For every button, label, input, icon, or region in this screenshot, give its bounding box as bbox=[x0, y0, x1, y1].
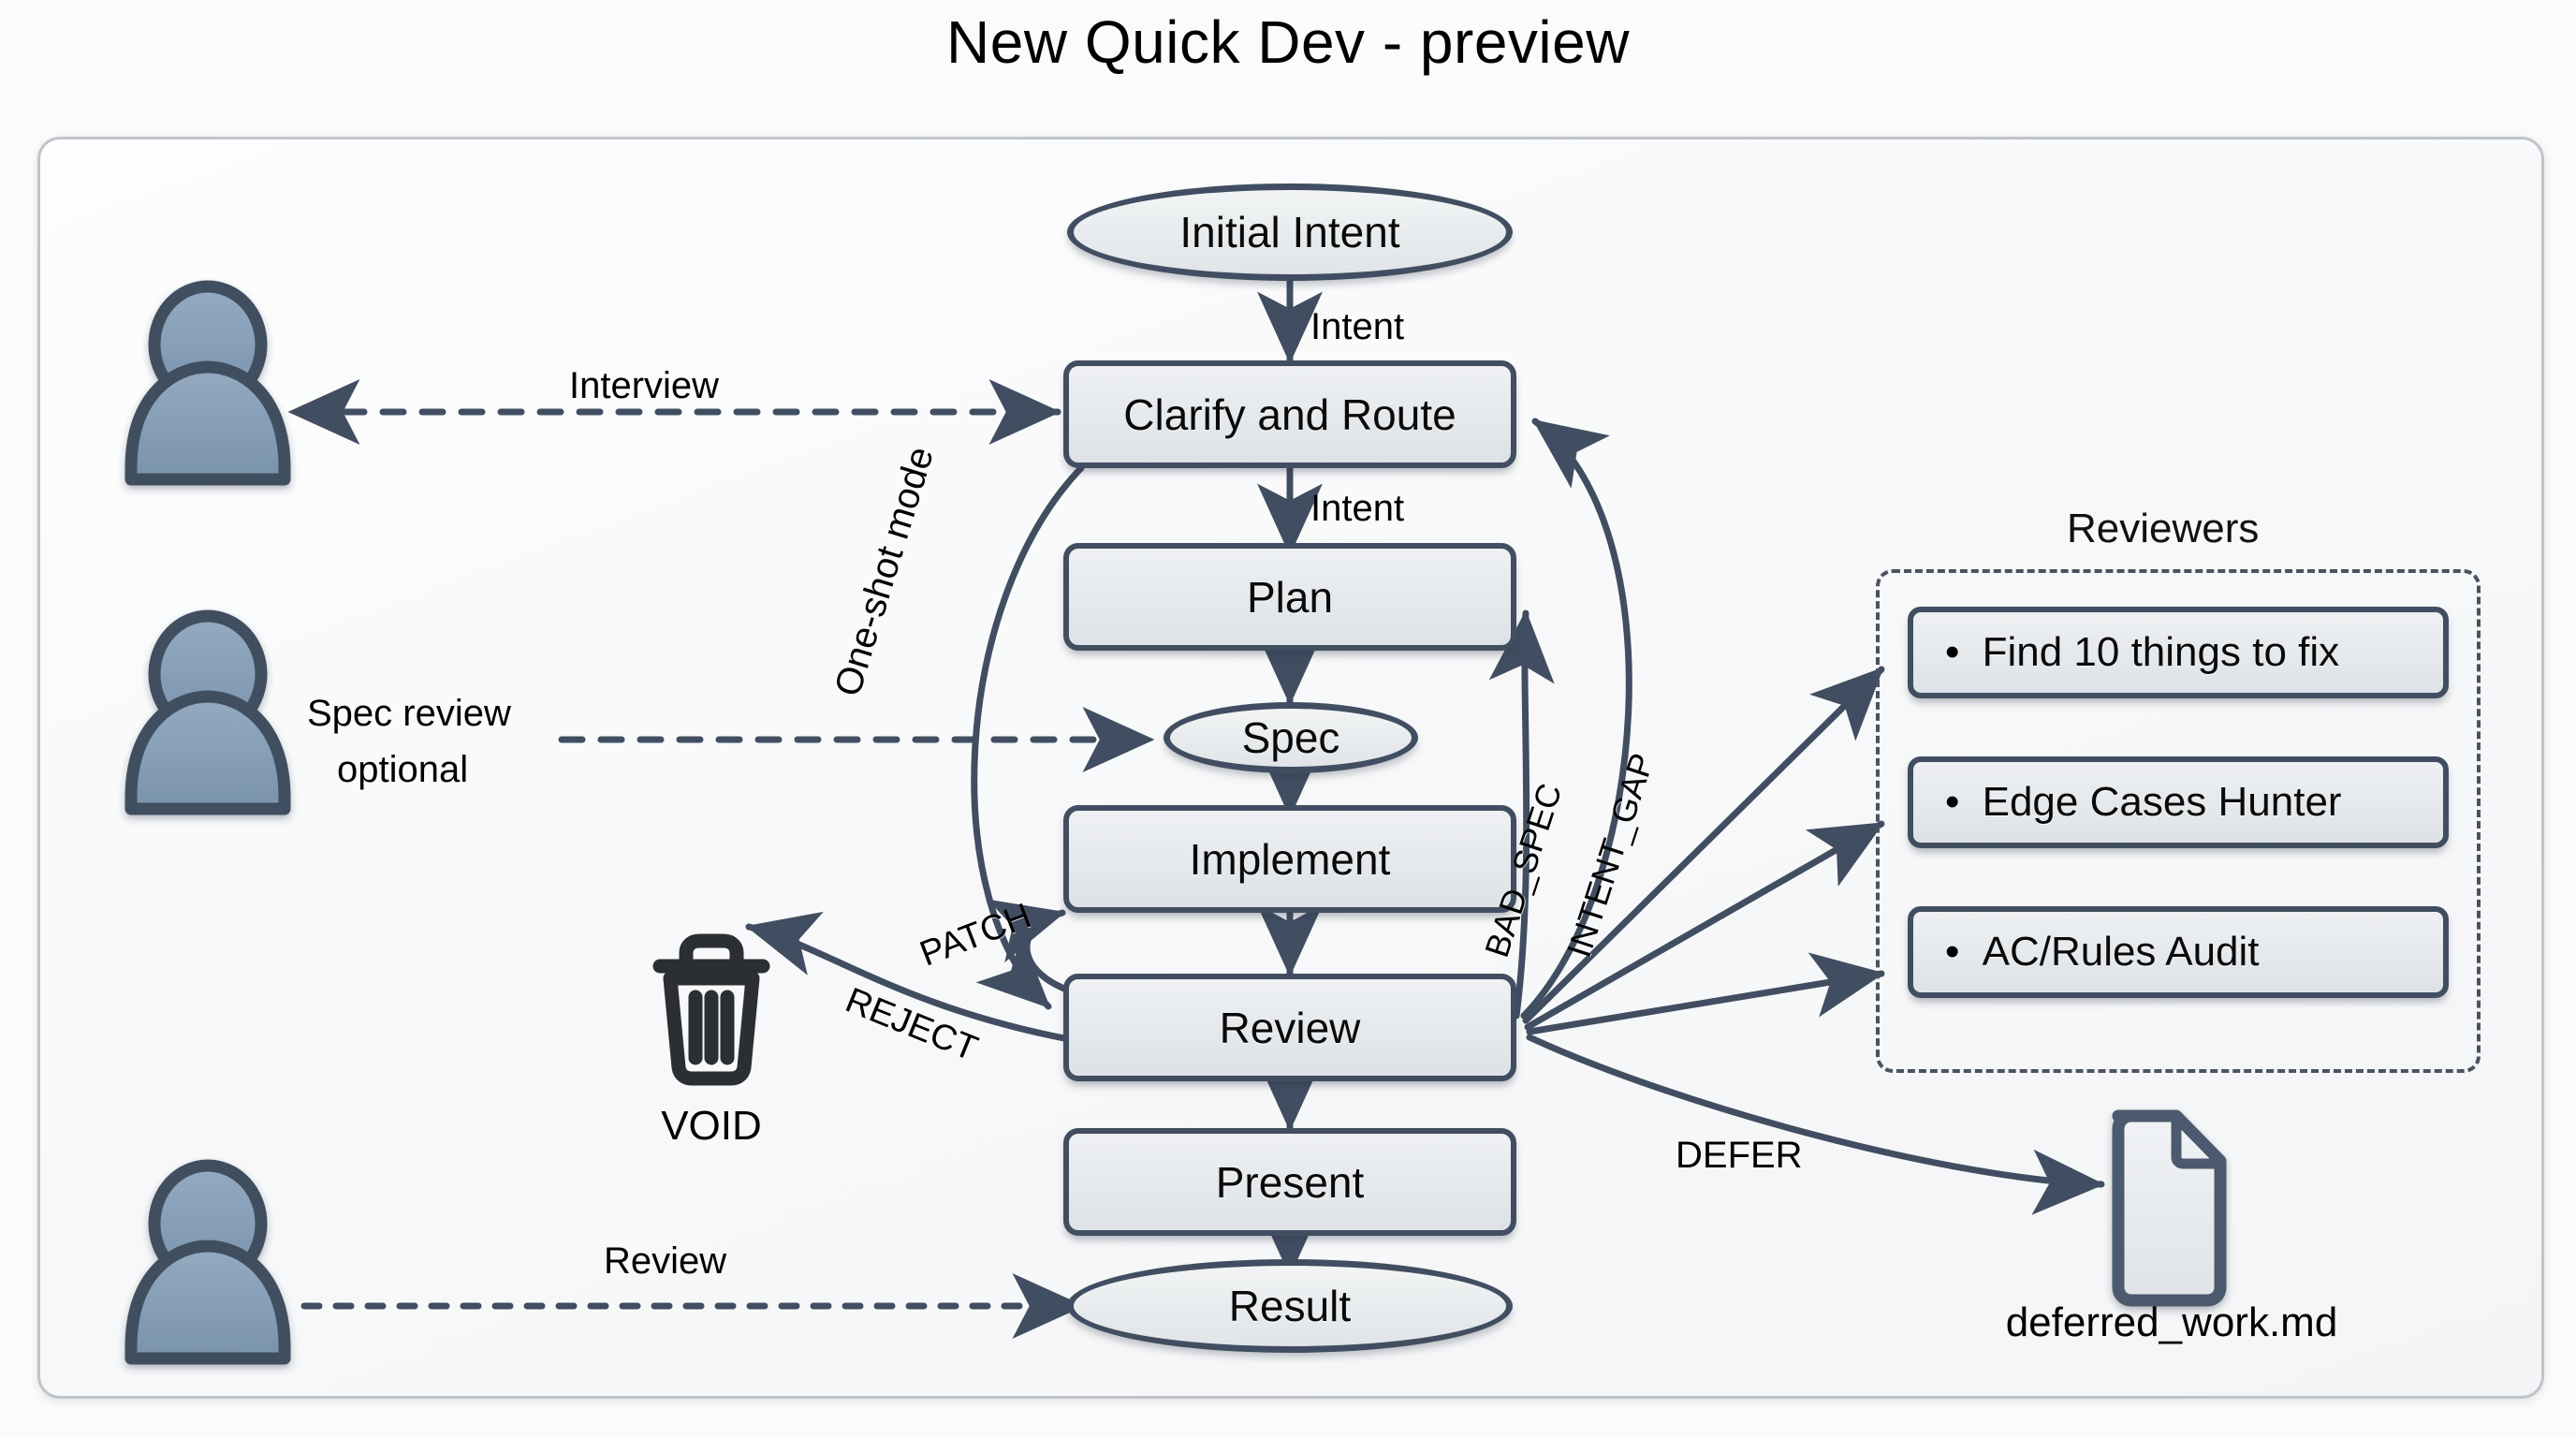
edge-label-intent-2: Intent bbox=[1310, 488, 1404, 530]
node-result[interactable]: Result bbox=[1067, 1259, 1513, 1353]
node-label: Present bbox=[1216, 1157, 1365, 1208]
node-label: Spec bbox=[1242, 712, 1340, 763]
edge-label-result-review: Review bbox=[604, 1240, 726, 1283]
node-label: Implement bbox=[1190, 834, 1391, 885]
reviewer-label: Edge Cases Hunter bbox=[1983, 779, 2342, 826]
file-document-icon bbox=[2118, 1116, 2220, 1300]
reviewer-item-find-10-things-to-fix[interactable]: • Find 10 things to fix bbox=[1908, 607, 2449, 698]
deferred-file-label: deferred_work.md bbox=[1947, 1299, 2396, 1346]
list-bullet: • bbox=[1945, 629, 1983, 676]
node-label: Clarify and Route bbox=[1123, 389, 1456, 440]
reviewers-title: Reviewers bbox=[2067, 506, 2259, 552]
actor-interview bbox=[131, 286, 285, 479]
edge-label-spec-review-line1: Spec review bbox=[307, 693, 511, 735]
edge-label-defer: DEFER bbox=[1676, 1135, 1803, 1177]
actor-spec-review bbox=[131, 616, 285, 809]
node-label: Result bbox=[1229, 1281, 1351, 1331]
edge-label-intent-1: Intent bbox=[1310, 306, 1404, 348]
reviewer-label: AC/Rules Audit bbox=[1983, 929, 2260, 976]
node-spec[interactable]: Spec bbox=[1164, 702, 1418, 773]
node-label: Review bbox=[1220, 1003, 1361, 1053]
node-label: Plan bbox=[1247, 572, 1333, 623]
void-label: VOID bbox=[655, 1103, 768, 1150]
edge-label-spec-review-line2: optional bbox=[337, 749, 468, 791]
node-plan[interactable]: Plan bbox=[1063, 543, 1516, 651]
edge-review-to-reviewer-3 bbox=[1529, 974, 1881, 1032]
list-bullet: • bbox=[1945, 929, 1983, 976]
trash-icon bbox=[660, 941, 763, 1078]
node-clarify-and-route[interactable]: Clarify and Route bbox=[1063, 360, 1516, 468]
reviewer-label: Find 10 things to fix bbox=[1983, 629, 2340, 676]
edge-label-interview: Interview bbox=[569, 365, 719, 407]
list-bullet: • bbox=[1945, 779, 1983, 826]
reviewer-item-edge-cases-hunter[interactable]: • Edge Cases Hunter bbox=[1908, 756, 2449, 848]
node-initial-intent[interactable]: Initial Intent bbox=[1067, 183, 1513, 281]
node-implement[interactable]: Implement bbox=[1063, 805, 1516, 913]
reviewer-item-ac-rules-audit[interactable]: • AC/Rules Audit bbox=[1908, 906, 2449, 998]
node-present[interactable]: Present bbox=[1063, 1128, 1516, 1236]
edge-review-to-reviewer-1 bbox=[1526, 669, 1881, 1020]
node-label: Initial Intent bbox=[1179, 207, 1399, 257]
actor-result-review bbox=[131, 1166, 285, 1358]
node-review[interactable]: Review bbox=[1063, 974, 1516, 1081]
